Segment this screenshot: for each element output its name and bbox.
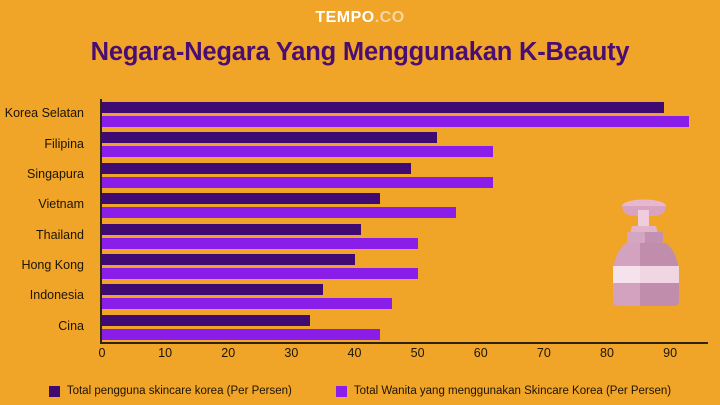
legend-item[interactable]: Total Wanita yang menggunakan Skincare K… [336, 385, 671, 397]
bar-row [102, 315, 708, 345]
bar-row [102, 163, 708, 193]
y-axis-label: Indonesia [0, 288, 92, 302]
tempo-co-logo: TEMPO.CO [0, 9, 720, 27]
bar-total-users [102, 102, 664, 113]
y-axis-labels: Korea SelatanFilipinaSingapuraVietnamTha… [0, 99, 92, 342]
legend-label: Total pengguna skincare korea (Per Perse… [67, 385, 292, 397]
y-axis-label: Cina [0, 319, 92, 333]
x-axis-tick-label: 60 [474, 346, 488, 360]
y-axis-label: Hong Kong [0, 258, 92, 272]
bar-total-users [102, 224, 361, 235]
legend-item[interactable]: Total pengguna skincare korea (Per Perse… [49, 385, 292, 397]
x-axis-tick-label: 0 [99, 346, 106, 360]
bar-total-users [102, 163, 411, 174]
bar-women-users [102, 116, 689, 127]
x-axis-tick-label: 50 [411, 346, 425, 360]
legend-swatch-icon [49, 386, 60, 397]
x-axis-ticks: 0102030405060708090 [102, 346, 708, 364]
bar-total-users [102, 254, 355, 265]
y-axis-label: Singapura [0, 167, 92, 181]
bar-women-users [102, 207, 456, 218]
brand-suffix: .CO [375, 9, 405, 26]
bar-total-users [102, 193, 380, 204]
chart-legend: Total pengguna skincare korea (Per Perse… [0, 385, 720, 397]
y-axis-label: Thailand [0, 228, 92, 242]
x-axis-tick-label: 90 [663, 346, 677, 360]
bar-row [102, 102, 708, 132]
bar-women-users [102, 268, 418, 279]
y-axis-label: Korea Selatan [0, 106, 92, 120]
legend-swatch-icon [336, 386, 347, 397]
bar-women-users [102, 146, 493, 157]
page-title: Negara-Negara Yang Menggunakan K-Beauty [0, 38, 720, 67]
infographic-root: TEMPO.CO Negara-Negara Yang Menggunakan … [0, 0, 720, 405]
x-axis-tick-label: 80 [600, 346, 614, 360]
brand-name: TEMPO [315, 9, 374, 26]
bar-women-users [102, 329, 380, 340]
bar-total-users [102, 132, 437, 143]
y-axis-label: Vietnam [0, 197, 92, 211]
x-axis-tick-label: 40 [348, 346, 362, 360]
bar-row [102, 132, 708, 162]
bar-women-users [102, 238, 418, 249]
x-axis-tick-label: 70 [537, 346, 551, 360]
bar-total-users [102, 315, 310, 326]
x-axis-tick-label: 20 [221, 346, 235, 360]
legend-label: Total Wanita yang menggunakan Skincare K… [354, 385, 671, 397]
pump-bottle-icon [604, 196, 688, 308]
x-axis-tick-label: 30 [284, 346, 298, 360]
bar-women-users [102, 298, 392, 309]
bar-total-users [102, 284, 323, 295]
y-axis-label: Filipina [0, 137, 92, 151]
x-axis-tick-label: 10 [158, 346, 172, 360]
bar-women-users [102, 177, 493, 188]
